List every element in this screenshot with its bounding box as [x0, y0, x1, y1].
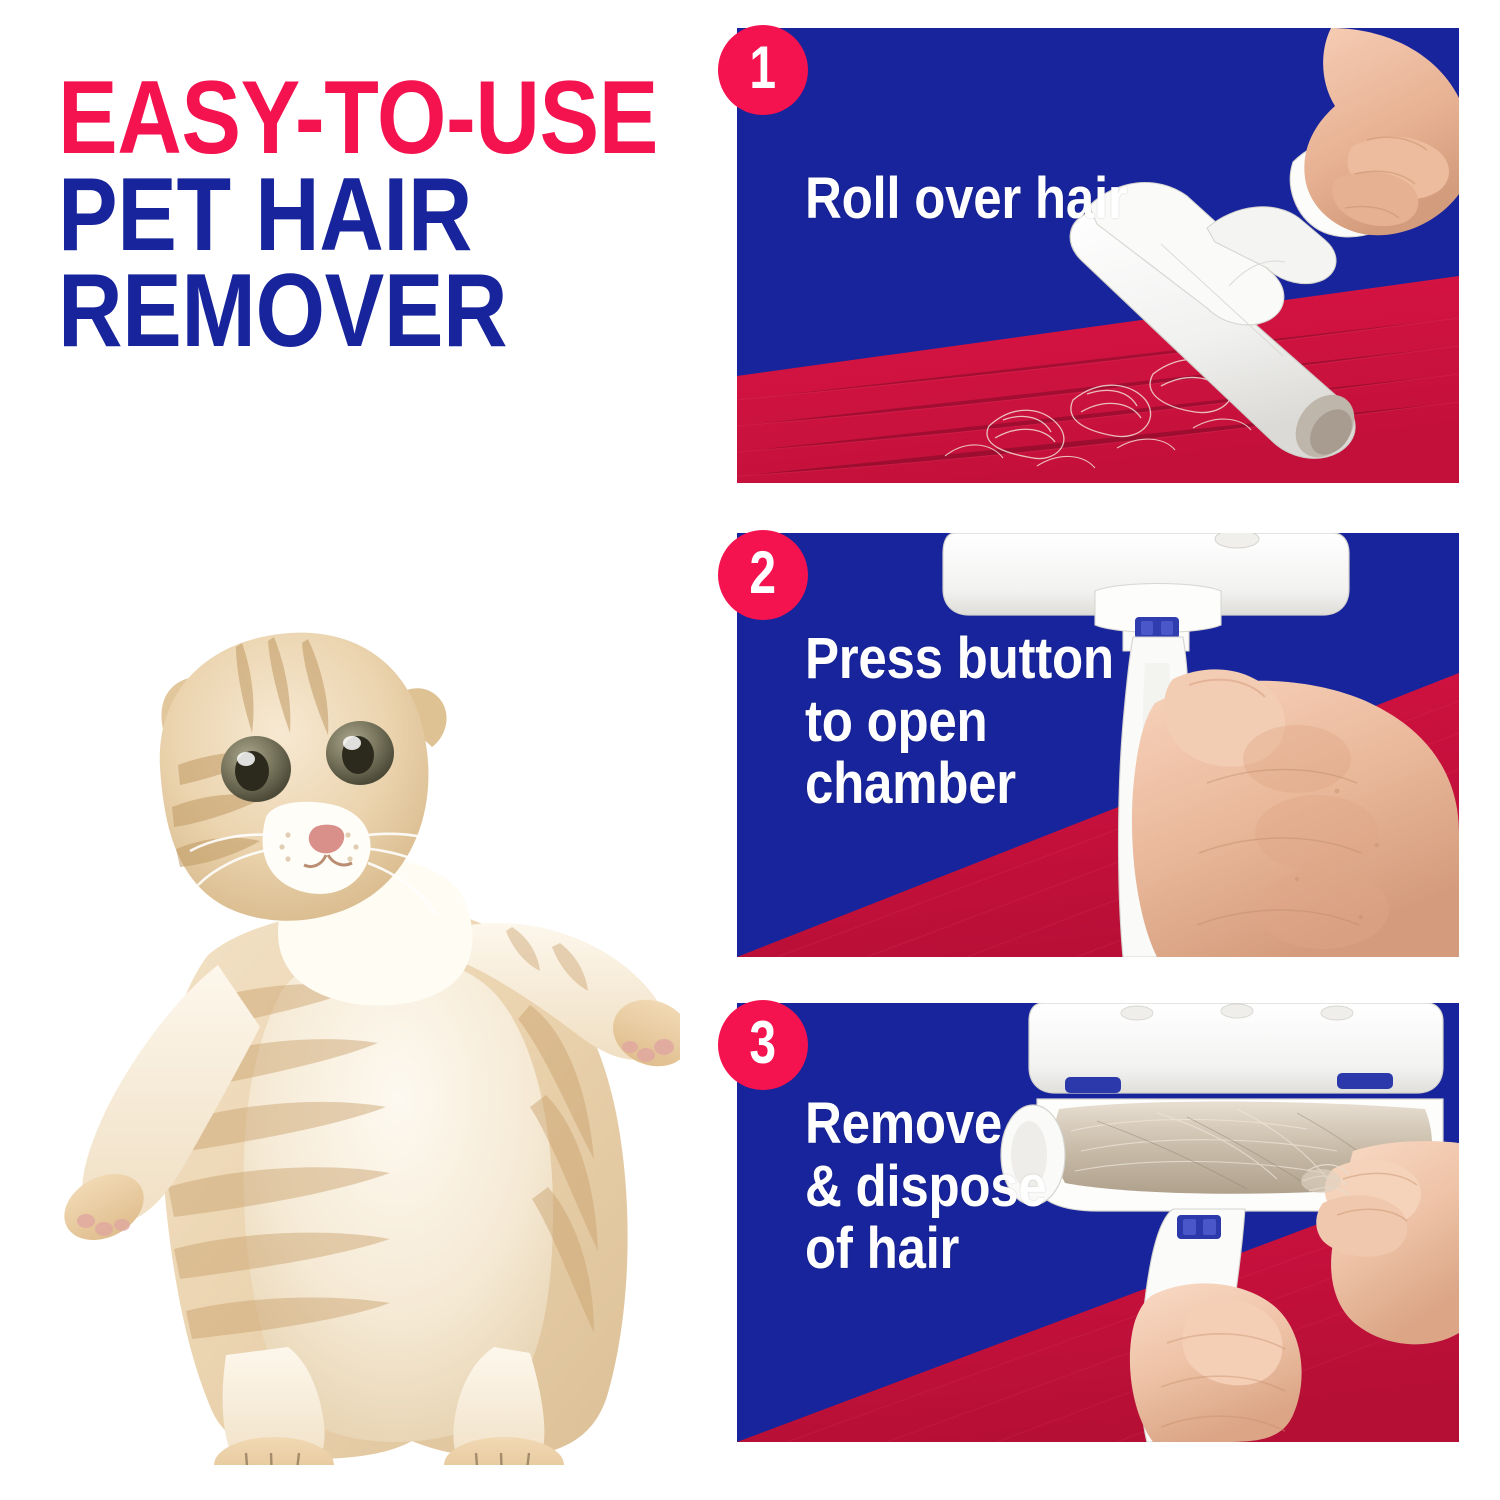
headline-line-2: PET HAIR — [58, 167, 608, 264]
step-2-label-line-2: to open — [805, 691, 1114, 754]
step-2-badge: 2 — [718, 530, 808, 620]
step-3-number: 3 — [750, 1013, 777, 1073]
step-1-label-line-1: Roll over hair — [805, 168, 1127, 231]
step-1-photo-frame — [737, 28, 1459, 483]
step-2-number: 2 — [750, 543, 777, 603]
step-3-label-line-3: of hair — [805, 1218, 1047, 1281]
step-1-badge: 1 — [718, 25, 808, 115]
step-card-2: 2 Press button to open chamber — [737, 533, 1459, 957]
headline-line-1: EASY-TO-USE — [58, 70, 608, 167]
step-2-label-line-3: chamber — [805, 753, 1114, 816]
step-card-1: 1 Roll over hair — [737, 28, 1459, 483]
step-card-3: 3 Remove & dispose of hair — [737, 1003, 1459, 1442]
step-1-photo — [737, 28, 1459, 483]
page-title: EASY-TO-USE PET HAIR REMOVER — [58, 70, 698, 360]
step-1-label: Roll over hair — [805, 168, 1171, 231]
step-3-label-line-2: & dispose — [805, 1156, 1047, 1219]
step-3-badge: 3 — [718, 1000, 808, 1090]
cat-illustration — [60, 535, 680, 1465]
step-2-label: Press button to open chamber — [805, 628, 1156, 816]
step-1-number: 1 — [750, 38, 777, 98]
hero-cat-image — [60, 535, 680, 1465]
headline-line-3: REMOVER — [58, 263, 608, 360]
cat-eye-right — [326, 721, 394, 785]
left-column: EASY-TO-USE PET HAIR REMOVER — [0, 0, 700, 1500]
step-3-label: Remove & dispose of hair — [805, 1093, 1079, 1281]
step-2-label-line-1: Press button — [805, 628, 1114, 691]
step-3-label-line-1: Remove — [805, 1093, 1047, 1156]
cat-eye-left — [221, 736, 291, 802]
